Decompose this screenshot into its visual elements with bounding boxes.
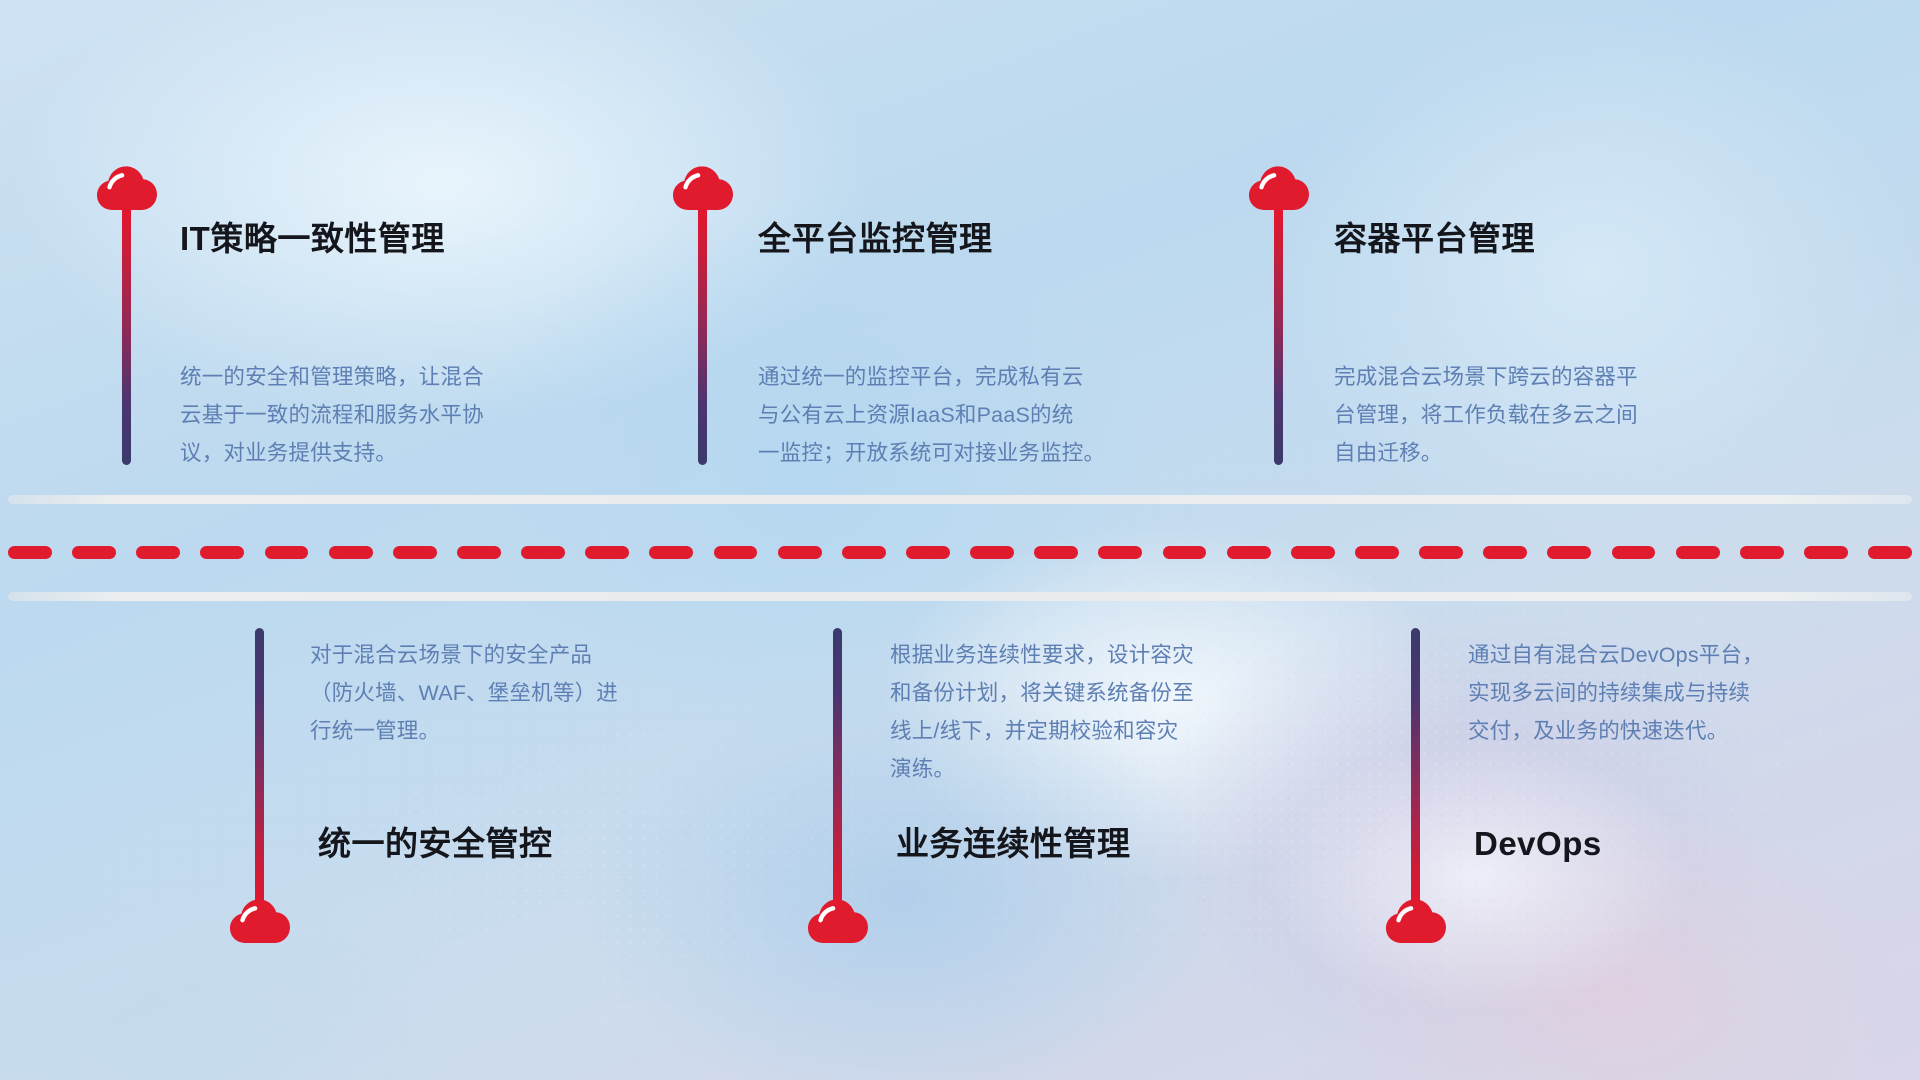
divider-dash [200, 546, 244, 559]
divider-dash [714, 546, 758, 559]
column-description: 通过自有混合云DevOps平台， 实现多云间的持续集成与持续 交付，及业务的快速… [1468, 636, 1908, 750]
divider-dash [1740, 546, 1784, 559]
divider-dash [1868, 546, 1912, 559]
connector-stem [1411, 628, 1420, 908]
divider-rule-top [8, 495, 1912, 504]
cloud-icon [672, 163, 734, 211]
divider-dash [585, 546, 629, 559]
divider-dash [72, 546, 116, 559]
column-title: 统一的安全管控 [318, 827, 553, 860]
cloud-icon [1248, 163, 1310, 211]
connector-stem [122, 205, 131, 465]
divider-dash [1098, 546, 1142, 559]
cloud-icon [96, 163, 158, 211]
divider-dash [970, 546, 1014, 559]
column-description: 根据业务连续性要求，设计容灾 和备份计划，将关键系统备份至 线上/线下，并定期校… [890, 636, 1330, 788]
divider-dash [1612, 546, 1656, 559]
divider-dash [457, 546, 501, 559]
divider-dash [1355, 546, 1399, 559]
divider-dash [649, 546, 693, 559]
connector-stem [698, 205, 707, 465]
divider-dash [329, 546, 373, 559]
divider-dash [1163, 546, 1207, 559]
column-title: 容器平台管理 [1334, 222, 1535, 255]
connector-stem [255, 628, 264, 908]
divider-dash [8, 546, 52, 559]
divider-dash [778, 546, 822, 559]
column-title: 业务连续性管理 [896, 827, 1131, 860]
divider-dash [265, 546, 309, 559]
divider-dash [1034, 546, 1078, 559]
connector-stem [1274, 205, 1283, 465]
column-title: DevOps [1474, 827, 1602, 860]
cloud-icon [229, 896, 291, 944]
column-title: IT策略一致性管理 [180, 222, 445, 255]
cloud-icon [807, 896, 869, 944]
divider-dash [1804, 546, 1848, 559]
divider-dash [1547, 546, 1591, 559]
column-title: 全平台监控管理 [758, 222, 993, 255]
column-description: 对于混合云场景下的安全产品 （防火墙、WAF、堡垒机等）进 行统一管理。 [310, 636, 740, 750]
divider-dash [393, 546, 437, 559]
divider-dash [1291, 546, 1335, 559]
infographic-canvas: IT策略一致性管理 统一的安全和管理策略，让混合 云基于一致的流程和服务水平协 … [0, 0, 1920, 1080]
connector-stem [833, 628, 842, 908]
divider-dash [521, 546, 565, 559]
divider-dash [1419, 546, 1463, 559]
divider-dash [136, 546, 180, 559]
divider-dash [1227, 546, 1271, 559]
divider-dash [906, 546, 950, 559]
divider-dash [1676, 546, 1720, 559]
column-description: 通过统一的监控平台，完成私有云 与公有云上资源IaaS和PaaS的统 一监控；开… [758, 358, 1208, 472]
divider-rule-bottom [8, 592, 1912, 601]
divider-dash [1483, 546, 1527, 559]
cloud-icon [1385, 896, 1447, 944]
column-description: 完成混合云场景下跨云的容器平 台管理，将工作负载在多云之间 自由迁移。 [1334, 358, 1774, 472]
divider-dash [842, 546, 886, 559]
column-description: 统一的安全和管理策略，让混合 云基于一致的流程和服务水平协 议，对业务提供支持。 [180, 358, 620, 472]
divider-dashed-line [8, 546, 1912, 559]
